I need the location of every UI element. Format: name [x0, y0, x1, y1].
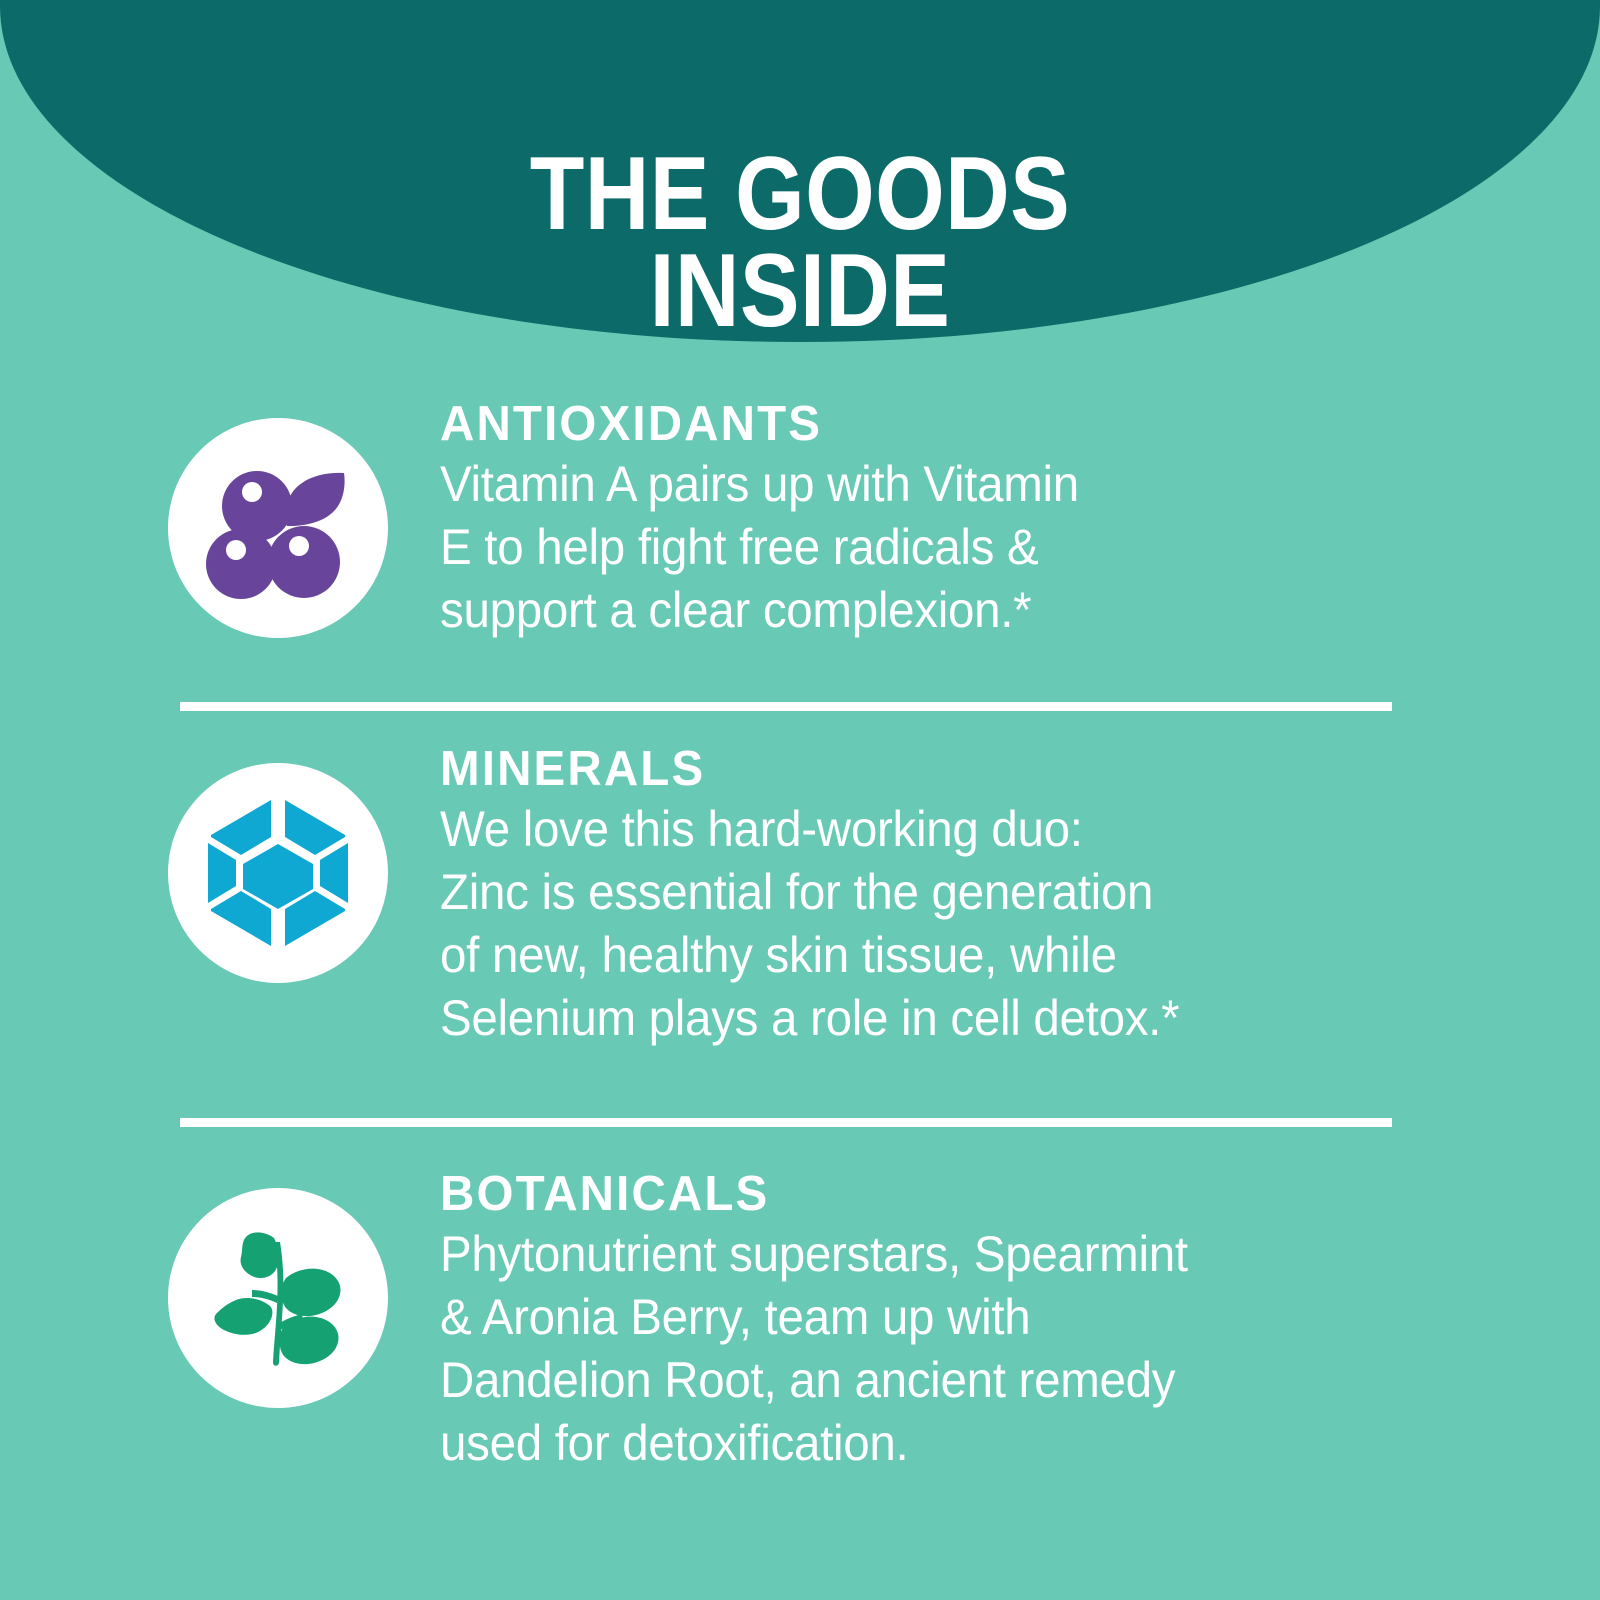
herb-sprig-icon	[168, 1188, 388, 1408]
section-body: Vitamin A pairs up with Vitamin E to hel…	[440, 453, 1400, 642]
section-divider	[180, 702, 1392, 711]
page-title: THE GOODS INSIDE	[112, 146, 1488, 342]
section-text-minerals: MINERALS We love this hard-working duo: …	[440, 745, 1450, 1050]
section-text-botanicals: BOTANICALS Phytonutrient superstars, Spe…	[440, 1170, 1450, 1475]
section-heading: ANTIOXIDANTS	[440, 400, 1420, 449]
section-heading: MINERALS	[440, 745, 1420, 794]
section-text-antioxidants: ANTIOXIDANTS Vitamin A pairs up with Vit…	[440, 400, 1450, 642]
berries-icon	[168, 418, 388, 638]
section-body: We love this hard-working duo: Zinc is e…	[440, 798, 1400, 1050]
gem-icon	[168, 763, 388, 983]
section-divider	[180, 1118, 1392, 1127]
infographic-page: THE GOODS INSIDE	[0, 0, 1600, 1600]
section-body: Phytonutrient superstars, Spearmint & Ar…	[440, 1223, 1400, 1475]
section-heading: BOTANICALS	[440, 1170, 1420, 1219]
